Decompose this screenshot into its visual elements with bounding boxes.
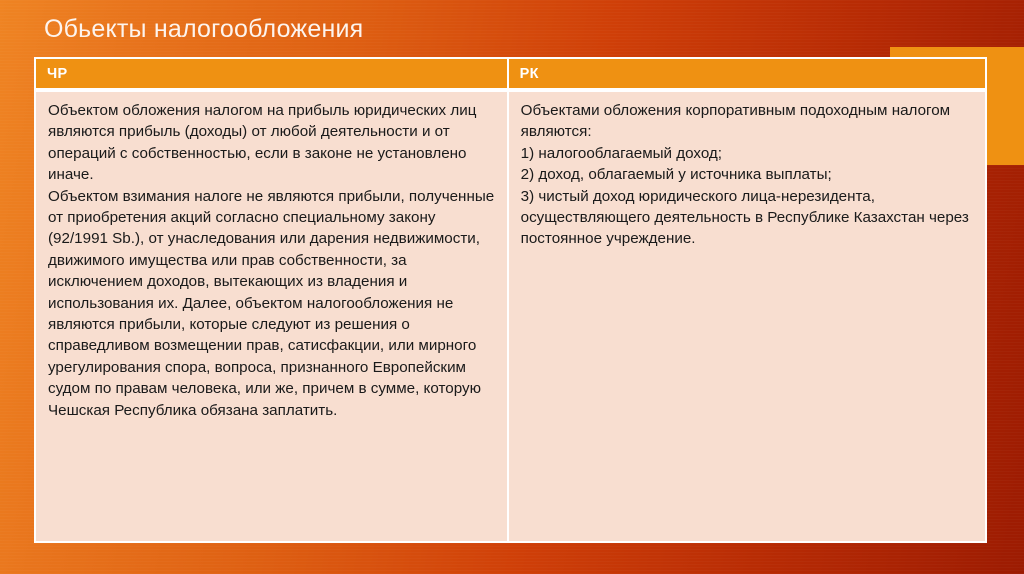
cell-paragraph: Объектами обложения корпоративным подохо… <box>521 100 973 143</box>
cell-paragraph: Объектом взимания налоге не являются при… <box>48 186 495 421</box>
comparison-table-container: ЧР РК Объектом обложения налогом на приб… <box>34 57 987 543</box>
table-cell-rk: Объектами обложения корпоративным подохо… <box>508 90 987 543</box>
column-header-cr: ЧР <box>34 57 508 90</box>
table-body: Объектом обложения налогом на прибыль юр… <box>34 90 987 543</box>
presentation-slide: Обьекты налогообложения ЧР РК Объектом о… <box>0 0 1024 574</box>
table-head: ЧР РК <box>34 57 987 90</box>
cell-paragraph: Объектом обложения налогом на прибыль юр… <box>48 100 495 186</box>
column-header-rk: РК <box>508 57 987 90</box>
cell-text-cr: Объектом обложения налогом на прибыль юр… <box>48 100 495 421</box>
comparison-table: ЧР РК Объектом обложения налогом на приб… <box>34 57 987 543</box>
table-cell-cr: Объектом обложения налогом на прибыль юр… <box>34 90 508 543</box>
page-title: Обьекты налогообложения <box>44 12 874 48</box>
table-row: Объектом обложения налогом на прибыль юр… <box>34 90 987 543</box>
table-header-row: ЧР РК <box>34 57 987 90</box>
cell-paragraph: 2) доход, облагаемый у источника выплаты… <box>521 164 973 185</box>
cell-text-rk: Объектами обложения корпоративным подохо… <box>521 100 973 250</box>
cell-paragraph: 1) налогооблагаемый доход; <box>521 143 973 164</box>
cell-paragraph: 3) чистый доход юридического лица-нерези… <box>521 186 973 250</box>
